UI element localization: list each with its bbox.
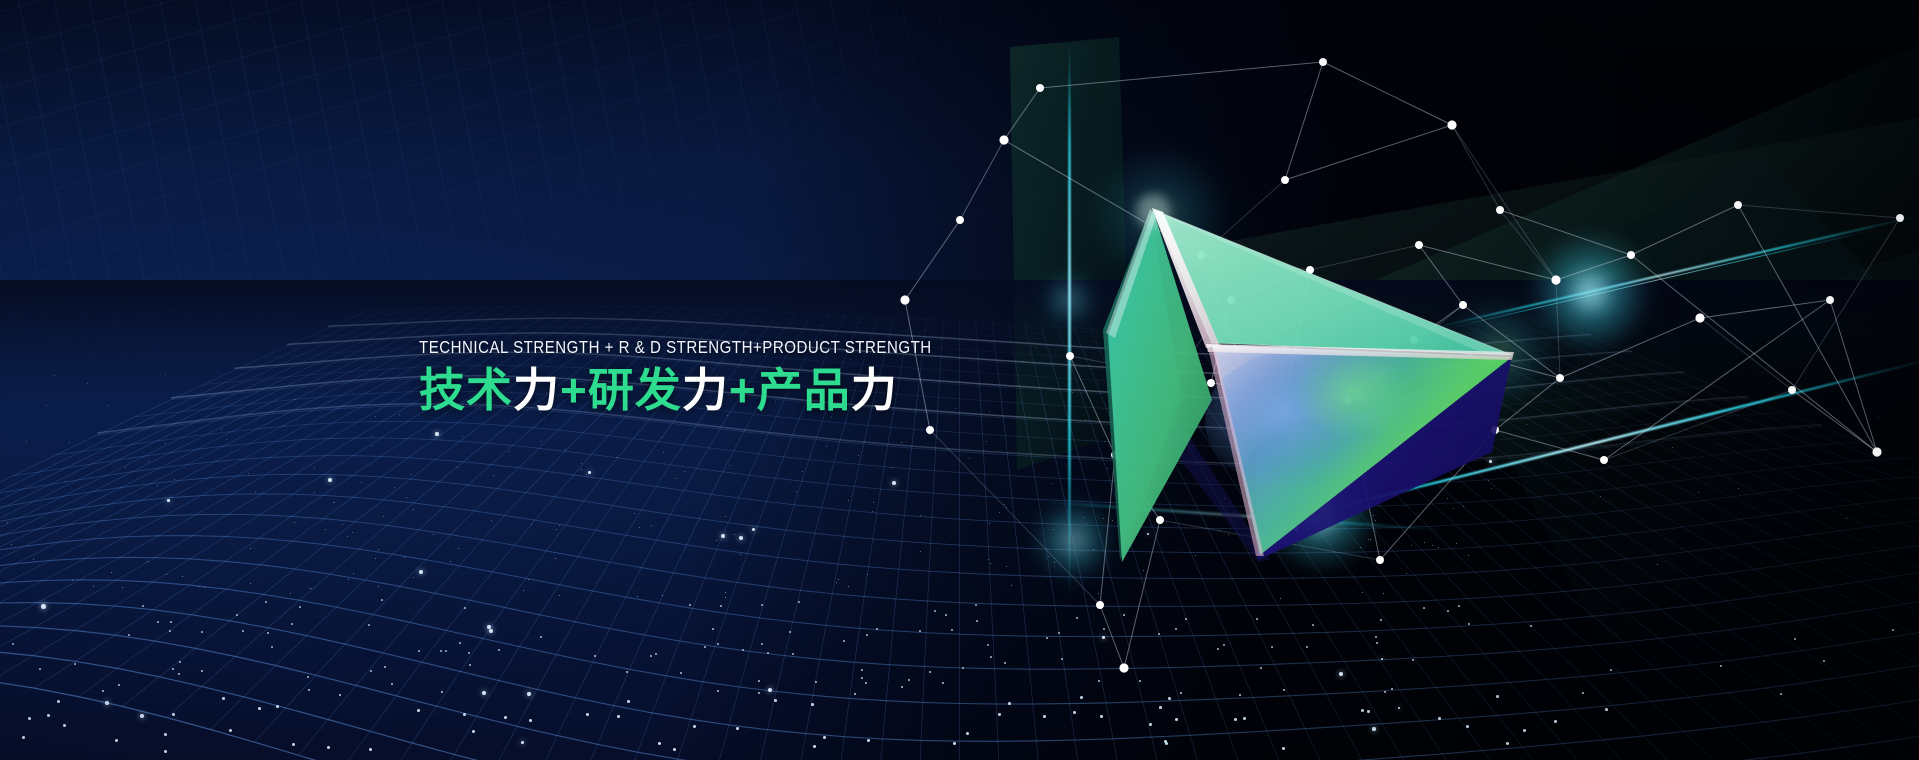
main-title: 技术力+研发力+产品力: [419, 366, 1039, 415]
headline-block: TECHNICAL STRENGTH + R & D STRENGTH+PROD…: [419, 339, 1039, 414]
title-segment-7: 力: [851, 364, 898, 416]
title-segment-4: 力: [682, 364, 729, 416]
eyebrow-subtitle: TECHNICAL STRENGTH + R & D STRENGTH+PROD…: [419, 339, 952, 357]
title-segment-6: 产品: [757, 364, 851, 416]
title-segment-2: +: [560, 364, 588, 416]
hero-banner: TECHNICAL STRENGTH + R & D STRENGTH+PROD…: [0, 0, 1919, 760]
title-segment-1: 力: [513, 364, 560, 416]
title-segment-3: 研发: [588, 364, 682, 416]
title-segment-5: +: [729, 364, 757, 416]
title-segment-0: 技术: [419, 364, 513, 416]
